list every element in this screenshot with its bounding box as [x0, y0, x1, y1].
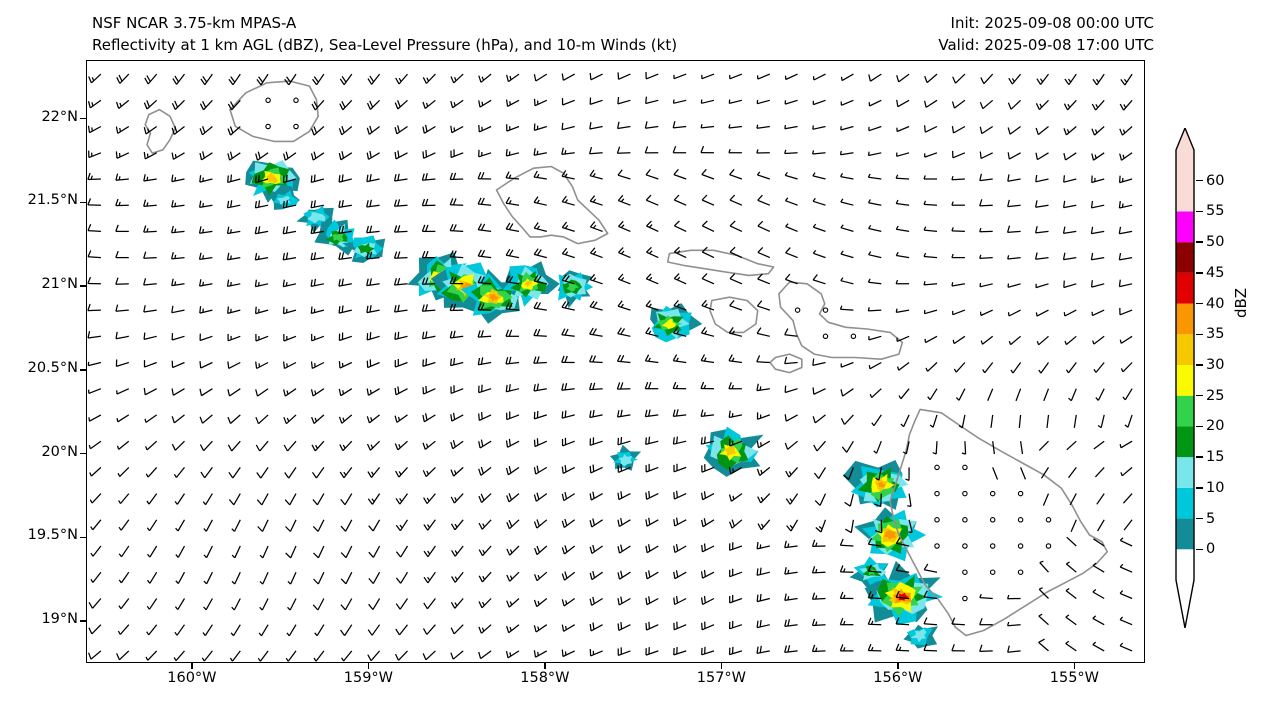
- wind-barb: [200, 441, 212, 451]
- wind-barb: [1008, 127, 1020, 135]
- colorbar-tickmark: [1196, 364, 1203, 365]
- wind-barb: [841, 173, 854, 179]
- wind-barb: [1016, 389, 1021, 401]
- wind-barb: [785, 172, 797, 179]
- wind-barb: [119, 494, 129, 504]
- wind-barb: [813, 198, 825, 205]
- wind-barb: [396, 599, 407, 610]
- wind-barb: [119, 520, 129, 531]
- wind-barb: [507, 439, 520, 447]
- wind-barb: [702, 491, 714, 499]
- wind-barb: [507, 599, 519, 608]
- wind-barb: [702, 544, 714, 552]
- wind-barb: [619, 221, 631, 231]
- wind-barb: [117, 651, 129, 660]
- wind-barb: [339, 279, 352, 286]
- wind-barb: [116, 305, 129, 312]
- wind-barb-calm: [963, 518, 967, 522]
- wind-barb: [930, 415, 937, 427]
- wind-barb: [928, 389, 937, 400]
- wind-barb: [1021, 467, 1026, 479]
- wind-barb: [646, 169, 658, 179]
- wind-barb: [869, 363, 881, 369]
- colorbar-ticklabel: 0: [1206, 541, 1215, 557]
- wind-barb-calm: [991, 518, 995, 522]
- colorbar-band: [1176, 304, 1194, 335]
- wind-barb: [813, 387, 825, 394]
- wind-barb: [924, 227, 937, 232]
- wind-barb: [176, 520, 185, 531]
- wind-barb: [983, 363, 993, 373]
- wind-barb: [423, 359, 436, 367]
- wind-barb: [451, 440, 463, 449]
- wind-barb: [925, 100, 937, 107]
- wind-barb: [424, 494, 436, 504]
- wind-barb: [172, 333, 184, 340]
- wind-barb: [507, 493, 519, 502]
- wind-barb: [952, 227, 965, 231]
- wind-barb: [618, 437, 630, 445]
- wind-barb: [452, 572, 464, 582]
- wind-barb: [1119, 280, 1132, 287]
- wind-barb: [200, 334, 212, 341]
- wind-barb: [534, 329, 547, 336]
- wind-barb: [980, 594, 993, 598]
- wind-barb: [260, 572, 268, 584]
- wind-barb: [618, 597, 630, 605]
- wind-barb: [562, 545, 574, 554]
- wind-barb: [874, 441, 882, 453]
- wind-barb: [785, 414, 797, 421]
- wind-barb: [507, 546, 519, 555]
- wind-barb: [757, 125, 770, 129]
- wind-barb: [228, 175, 241, 183]
- wind-barb: [562, 383, 575, 390]
- wind-barb: [896, 644, 909, 651]
- wind-barb: [200, 415, 212, 423]
- wind-barb: [478, 357, 491, 364]
- colorbar-band: [1176, 396, 1194, 427]
- wind-barb: [1008, 152, 1020, 159]
- wind-barb: [1124, 520, 1132, 530]
- wind-barb: [534, 223, 547, 232]
- wind-barb: [479, 467, 491, 476]
- wind-barb: [952, 618, 965, 625]
- wind-barb: [701, 355, 714, 363]
- wind-barb: [478, 224, 491, 232]
- wind-barb: [813, 275, 825, 284]
- latitude-tickmark: [80, 369, 86, 370]
- colorbar[interactable]: [1172, 128, 1198, 628]
- wind-barb: [1120, 127, 1132, 136]
- wind-barb: [980, 174, 993, 181]
- wind-barb: [786, 494, 797, 505]
- wind-barb: [367, 200, 380, 207]
- wind-barb: [785, 357, 798, 364]
- wind-barb: [841, 251, 854, 258]
- wind-barb: [256, 441, 268, 451]
- wind-barb: [646, 518, 658, 526]
- model-title: NSF NCAR 3.75-km MPAS-A: [92, 12, 296, 34]
- wind-barb: [506, 384, 519, 392]
- wind-barb: [228, 362, 240, 369]
- colorbar-ticklabel: 60: [1206, 173, 1224, 189]
- wind-barb: [1097, 494, 1104, 505]
- wind-barb: [840, 306, 853, 310]
- wind-barb: [311, 252, 324, 259]
- wind-barb: [119, 572, 129, 583]
- wind-barb: [258, 651, 268, 661]
- wind-barb: [590, 383, 603, 390]
- wind-barb: [116, 151, 128, 158]
- wind-barb: [88, 251, 101, 258]
- wind-barb: [231, 625, 240, 636]
- wind-barb: [424, 625, 436, 635]
- wind-barb: [117, 415, 129, 422]
- wind-barb: [507, 74, 519, 82]
- wind-barb: [175, 599, 184, 610]
- wind-barb: [479, 599, 491, 608]
- wind-barb: [506, 172, 519, 179]
- wind-barb: [841, 225, 854, 232]
- wind-barb: [506, 357, 519, 364]
- wind-barb: [896, 226, 909, 231]
- colorbar-ticklabel: 30: [1206, 357, 1224, 373]
- wind-barb: [422, 199, 435, 206]
- wind-barb: [1008, 100, 1020, 109]
- wind-barb: [144, 152, 156, 159]
- wind-barb: [535, 438, 547, 446]
- wind-barb: [340, 415, 352, 423]
- wind-barb-calm: [1018, 491, 1022, 495]
- wind-barb: [952, 202, 965, 206]
- wind-barb-calm: [1018, 544, 1022, 548]
- wind-barb: [590, 147, 603, 154]
- wind-barb: [228, 152, 240, 161]
- wind-barb: [88, 277, 101, 284]
- colorbar-band: [1176, 242, 1194, 273]
- wind-barb: [981, 310, 993, 315]
- wind-barb: [1091, 253, 1104, 260]
- latitude-tickmark: [80, 118, 86, 119]
- wind-barb: [991, 415, 993, 428]
- wind-barb: [1036, 200, 1049, 207]
- wind-barb: [534, 249, 547, 258]
- wind-barb: [395, 125, 407, 133]
- wind-barb: [202, 651, 212, 661]
- wind-barb: [896, 280, 909, 284]
- wind-barb: [674, 570, 687, 578]
- wind-barb: [312, 334, 324, 341]
- wind-barb: [896, 200, 909, 205]
- colorbar-axis-label: dBZ: [1232, 288, 1250, 318]
- wind-barb: [758, 520, 770, 530]
- init-time-label: Init: 2025-09-08 00:00 UTC: [951, 12, 1154, 34]
- latitude-ticklabel: 21.5°N: [0, 192, 78, 208]
- colorbar-band: [1176, 549, 1194, 580]
- wind-barb: [534, 466, 546, 475]
- wind-barb: [757, 100, 770, 104]
- wind-barb: [702, 247, 714, 257]
- longitude-tickmark: [191, 663, 192, 669]
- wind-barb: [367, 126, 379, 134]
- wind-barb: [117, 74, 129, 83]
- wind-barb: [256, 415, 268, 424]
- wind-barb: [562, 248, 574, 257]
- wind-barb: [980, 618, 993, 625]
- wind-barb: [868, 307, 881, 311]
- wind-barb: [988, 389, 993, 401]
- colorbar-band: [1176, 211, 1194, 242]
- wind-barb: [701, 146, 714, 153]
- wind-barb-calm: [823, 308, 827, 312]
- wind-barb: [1121, 467, 1132, 475]
- wind-barb: [1044, 389, 1049, 401]
- wind-barb: [646, 437, 659, 445]
- wind-barb: [286, 651, 296, 661]
- wind-barb: [645, 146, 658, 153]
- wind-barb: [1074, 415, 1076, 428]
- wind-barb: [1064, 100, 1076, 110]
- wind-barb: [1064, 175, 1077, 182]
- wind-barb: [786, 248, 798, 258]
- wind-barb: [255, 280, 268, 287]
- wind-barb: [673, 121, 686, 128]
- wind-barb: [228, 307, 241, 314]
- latitude-ticklabel: 20°N: [0, 444, 78, 460]
- wind-barb: [367, 359, 379, 367]
- wind-barb: [479, 125, 491, 132]
- wind-barb: [590, 649, 602, 656]
- wind-barb: [89, 415, 101, 421]
- wind-barb: [1123, 389, 1132, 400]
- wind-barb: [479, 572, 491, 582]
- wind-barb: [1119, 253, 1132, 260]
- latitude-ticklabel: 19°N: [0, 611, 78, 627]
- wind-barb: [311, 279, 324, 287]
- wind-barb: [673, 146, 686, 153]
- wind-barb: [256, 362, 268, 369]
- wind-barb: [869, 100, 881, 106]
- wind-barb: [924, 253, 937, 258]
- wind-barb: [618, 518, 630, 526]
- wind-barb: [256, 389, 268, 396]
- wind-barb: [981, 336, 992, 344]
- wind-barb: [702, 596, 714, 604]
- wind-barb: [786, 74, 798, 79]
- wind-barb: [1096, 389, 1104, 401]
- wind-barb: [172, 175, 185, 182]
- longitude-ticklabel: 160°W: [147, 670, 237, 686]
- wind-barb: [369, 520, 380, 531]
- latitude-ticklabel: 21°N: [0, 276, 78, 292]
- wind-barb: [899, 389, 909, 399]
- wind-barb: [534, 74, 546, 81]
- wind-barb: [925, 336, 937, 342]
- wind-barb: [116, 199, 129, 206]
- wind-barb: [145, 74, 157, 84]
- wind-barb: [1123, 494, 1132, 504]
- wind-barb: [286, 520, 297, 532]
- wind-barb: [172, 100, 184, 109]
- wind-barb: [534, 493, 546, 502]
- wind-barb-calm: [266, 124, 270, 128]
- wind-barb: [897, 127, 909, 132]
- wind-barb: [395, 332, 408, 340]
- wind-barb: [730, 195, 742, 205]
- wind-barb: [144, 252, 157, 259]
- wind-barb: [674, 622, 686, 630]
- wind-barb: [172, 252, 185, 259]
- wind-barb: [534, 148, 547, 155]
- colorbar-swatches: [1172, 128, 1198, 628]
- wind-barb: [1043, 494, 1048, 506]
- wind-barb: [868, 644, 881, 651]
- wind-barb: [730, 74, 742, 79]
- wind-barb: [228, 334, 240, 341]
- wind-barb: [842, 441, 853, 452]
- wind-barb: [451, 494, 463, 504]
- wind-barb: [313, 494, 324, 505]
- wind-barb: [785, 645, 798, 652]
- wind-barb: [785, 619, 798, 626]
- wind-barb: [1037, 336, 1048, 345]
- wind-barb: [1092, 127, 1104, 136]
- wind-barb: [423, 441, 435, 449]
- wind-barb: [618, 195, 630, 205]
- wind-barb: [118, 625, 128, 635]
- wind-barb: [868, 279, 881, 284]
- wind-barb: [619, 248, 631, 258]
- wind-barb: [284, 389, 296, 396]
- wind-barb: [840, 539, 853, 546]
- wind-barb: [816, 520, 826, 532]
- wind-barb: [1036, 226, 1049, 233]
- figure-canvas: NSF NCAR 3.75-km MPAS-A Init: 2025-09-08…: [0, 0, 1268, 728]
- wind-barb: [646, 491, 658, 499]
- wind-barb: [506, 223, 519, 231]
- wind-barb: [228, 200, 241, 208]
- wind-barb: [535, 572, 547, 581]
- wind-barb: [646, 97, 659, 104]
- colorbar-tickmark: [1196, 180, 1203, 181]
- colorbar-ticklabel: 45: [1206, 265, 1224, 281]
- wind-barb: [841, 278, 854, 284]
- wind-barb: [952, 282, 965, 286]
- wind-barb: [674, 221, 686, 231]
- wind-barb: [147, 494, 157, 505]
- colorbar-tickmark: [1196, 272, 1203, 273]
- wind-barb: [200, 151, 212, 160]
- wind-barb: [785, 567, 798, 574]
- wind-barb: [729, 382, 742, 389]
- wind-barb: [980, 645, 993, 652]
- wind-barb: [259, 625, 268, 636]
- wind-barb: [1066, 589, 1076, 599]
- wind-barb: [618, 410, 631, 417]
- wind-barb: [869, 225, 882, 231]
- wind-barb: [367, 174, 380, 182]
- wind-barb: [980, 152, 992, 159]
- wind-barb: [1039, 614, 1049, 625]
- wind-barb: [1093, 563, 1104, 572]
- wind-barb: [396, 546, 407, 557]
- wind-barb: [341, 520, 352, 532]
- wind-barb: [813, 224, 825, 231]
- wind-barb: [590, 248, 602, 258]
- wind-barb: [757, 355, 770, 362]
- wind-barb: [814, 467, 825, 478]
- wind-barb: [283, 280, 296, 287]
- coastline-layer: [145, 81, 1107, 635]
- wind-barb: [674, 518, 686, 526]
- wind-barb: [758, 74, 770, 79]
- wind-barb: [200, 389, 212, 396]
- wind-barb: [1092, 280, 1105, 287]
- wind-barb: [424, 572, 435, 583]
- wind-barb: [395, 174, 408, 181]
- wind-barb: [284, 415, 296, 424]
- wind-barb: [618, 545, 630, 554]
- wind-barb: [88, 331, 101, 338]
- wind-barb: [1036, 100, 1048, 109]
- wind-barb: [144, 174, 157, 181]
- wind-barb: [255, 253, 268, 260]
- wind-barb: [701, 382, 714, 389]
- map-axes[interactable]: [86, 60, 1145, 663]
- wind-barb: [200, 306, 213, 313]
- wind-barb: [396, 74, 408, 84]
- wind-barb: [590, 274, 602, 284]
- colorbar-ticklabel: 5: [1206, 511, 1215, 527]
- wind-barb: [562, 650, 574, 657]
- wind-barb: [646, 570, 658, 579]
- wind-barb: [730, 542, 742, 550]
- wind-barb: [339, 361, 351, 368]
- wind-barb: [201, 74, 213, 85]
- wind-barb: [88, 362, 101, 366]
- wind-barb: [1008, 255, 1021, 259]
- colorbar-tickmark: [1196, 518, 1203, 519]
- wind-barb: [172, 415, 184, 423]
- wind-barb: [396, 572, 407, 583]
- wind-barb: [312, 152, 324, 161]
- wind-barb: [840, 618, 853, 625]
- wind-barb: [368, 625, 379, 636]
- colorbar-tickmark: [1196, 426, 1203, 427]
- wind-barb: [1093, 616, 1104, 625]
- wind-barb: [1065, 336, 1076, 344]
- wind-barb: [758, 195, 770, 205]
- wind-barb: [506, 197, 519, 205]
- wind-barb: [340, 441, 352, 451]
- wind-barb: [341, 599, 352, 610]
- wind-barb: [702, 570, 714, 578]
- wind-barb: [452, 520, 464, 530]
- wind-barb: [451, 100, 463, 108]
- wind-barb: [897, 100, 909, 107]
- wind-barb: [730, 274, 742, 284]
- wind-barb: [993, 467, 998, 479]
- wind-barb: [785, 100, 797, 104]
- wind-barb: [478, 172, 491, 179]
- wind-barb: [618, 622, 630, 630]
- wind-barb: [172, 279, 185, 286]
- wind-barb: [813, 415, 825, 423]
- colorbar-ticklabel: 55: [1206, 203, 1224, 219]
- wind-barb: [813, 173, 826, 179]
- wind-barb: [423, 100, 435, 108]
